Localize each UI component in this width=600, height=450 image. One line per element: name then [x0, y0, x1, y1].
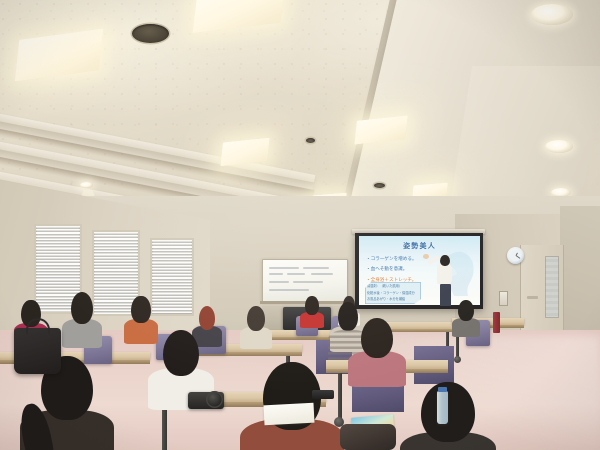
- presenter-hand: [423, 254, 429, 259]
- whiteboard: [262, 259, 348, 302]
- attendee-striped-head: [338, 302, 358, 331]
- slide-callout-line-3: お風呂あがり・水分を補給: [367, 296, 421, 301]
- projection-screen: 姿勢美人 ・コラーゲンを増める。・血へそ動を意識。・全身浴＋ストレッチ。 保湿剤…: [355, 233, 483, 309]
- slide-title: 姿勢美人: [359, 241, 480, 251]
- table-front-right-leg-1: [338, 373, 342, 419]
- whiteboard-ink-4: [287, 273, 305, 275]
- dslr-camera-lens: [206, 391, 223, 408]
- caster-right-far: [454, 356, 461, 363]
- smartphone: [312, 390, 334, 399]
- window-left-2: [94, 232, 138, 314]
- wall-clock-face: [510, 250, 521, 261]
- window-left-3: [152, 240, 192, 314]
- downlight-band-1: [80, 182, 93, 188]
- light-switch-panel[interactable]: [500, 292, 507, 305]
- attendee-gray-head: [71, 292, 93, 324]
- ceiling-vent-small: [306, 138, 315, 143]
- slide-bullet-3: ・全身浴＋ストレッチ。: [366, 277, 417, 283]
- presentation-slide: 姿勢美人 ・コラーゲンを増める。・血へそ動を意識。・全身浴＋ストレッチ。 保湿剤…: [359, 236, 480, 305]
- backpack: [340, 424, 396, 450]
- whiteboard-ink-1: [269, 267, 299, 269]
- attendee-orange-head: [131, 296, 150, 323]
- slide-callout-line-1: 保湿剤：（乾いた肌用）: [367, 283, 421, 288]
- attendee-gray-hood-head: [458, 300, 474, 321]
- clock-minute-hand: [515, 255, 519, 258]
- slide-callout-line-2: 化粧水後・コラーゲン・保湿成分: [367, 290, 421, 295]
- attendee-redhair-head: [247, 306, 265, 331]
- whiteboard-ink-8: [269, 289, 309, 291]
- whiteboard-ink-3: [269, 273, 283, 275]
- presenter-legs: [440, 284, 451, 306]
- slide-bullet-1: ・コラーゲンを増める。: [366, 256, 417, 262]
- whiteboard-ink-5: [311, 273, 333, 275]
- ceiling-vent-tiny: [374, 183, 385, 188]
- attendee-beige-head: [199, 306, 216, 330]
- handbag: [14, 328, 61, 374]
- window-left-3-blinds: [152, 240, 192, 314]
- whiteboard-ink-7: [293, 281, 323, 283]
- attendee-white-camera-head: [163, 330, 200, 376]
- attendee-pink-shirt-head: [361, 318, 393, 358]
- attendee-red-far-head: [305, 296, 318, 315]
- presenter-arm-down: [448, 266, 452, 282]
- red-thermos: [493, 312, 500, 333]
- water-bottle-cap: [438, 387, 447, 392]
- water-bottle: [437, 391, 448, 424]
- window-left-2-blinds: [94, 232, 138, 314]
- door-handle[interactable]: [527, 296, 538, 299]
- whiteboard-ink-2: [303, 267, 329, 269]
- whiteboard-ink-6: [269, 281, 289, 283]
- downlight-soffit-1: [531, 4, 573, 25]
- table-front-center-leg: [162, 407, 167, 450]
- downlight-soffit-2: [545, 140, 573, 153]
- paper-handout: [264, 403, 315, 426]
- seminar-room-photo: 姿勢美人 ・コラーゲンを増める。・血へそ動を意識。・全身浴＋ストレッチ。 保湿剤…: [0, 0, 600, 450]
- ceiling-vent-large: [132, 24, 169, 43]
- slide-bullet-2: ・血へそ動を意識。: [366, 266, 417, 272]
- door-frosted-glass: [545, 256, 559, 318]
- slide-callout-box: 保湿剤：（乾いた肌用）化粧水後・コラーゲン・保湿成分お風呂あがり・水分を補給: [365, 282, 421, 304]
- presenter-head: [440, 255, 450, 266]
